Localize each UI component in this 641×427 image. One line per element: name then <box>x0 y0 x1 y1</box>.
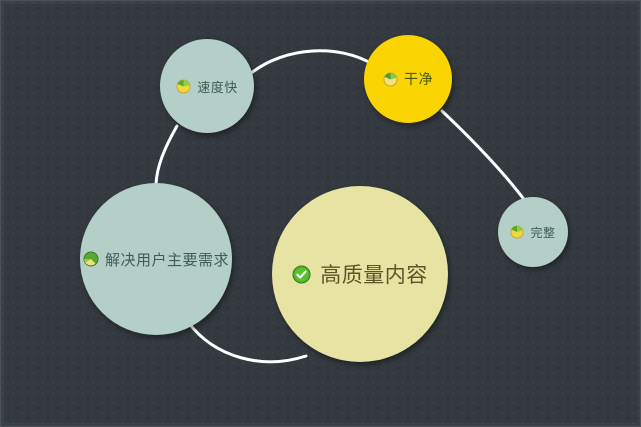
diagram-canvas: 速度快 干净 完整 <box>0 0 641 427</box>
edge-needs-quality <box>188 322 306 362</box>
node-needs-label: 解决用户主要需求 <box>105 249 229 270</box>
node-speed-content: 速度快 <box>176 77 238 96</box>
node-quality-label: 高质量内容 <box>320 259 428 289</box>
node-quality[interactable]: 高质量内容 <box>272 186 448 362</box>
node-speed-label: 速度快 <box>197 77 238 96</box>
node-needs-content: 解决用户主要需求 <box>83 249 229 270</box>
node-clean-content: 干净 <box>383 69 433 89</box>
pie-chart-yellow-icon <box>176 79 191 94</box>
node-complete-content: 完整 <box>510 224 555 241</box>
node-complete-label: 完整 <box>530 224 555 241</box>
node-quality-content: 高质量内容 <box>292 259 428 289</box>
node-clean[interactable]: 干净 <box>364 35 452 123</box>
node-clean-label: 干净 <box>404 69 433 89</box>
node-needs[interactable]: 解决用户主要需求 <box>80 183 232 335</box>
node-speed[interactable]: 速度快 <box>160 39 254 133</box>
pie-chart-green-icon <box>83 251 99 267</box>
node-complete[interactable]: 完整 <box>498 197 568 267</box>
pie-chart-yellow-icon <box>510 225 524 239</box>
pie-chart-yellow-icon <box>383 72 398 87</box>
edge-speed-needs <box>156 126 177 184</box>
check-circle-green-icon <box>292 265 311 284</box>
edge-speed-clean <box>250 51 372 74</box>
edge-clean-complete <box>442 111 523 198</box>
